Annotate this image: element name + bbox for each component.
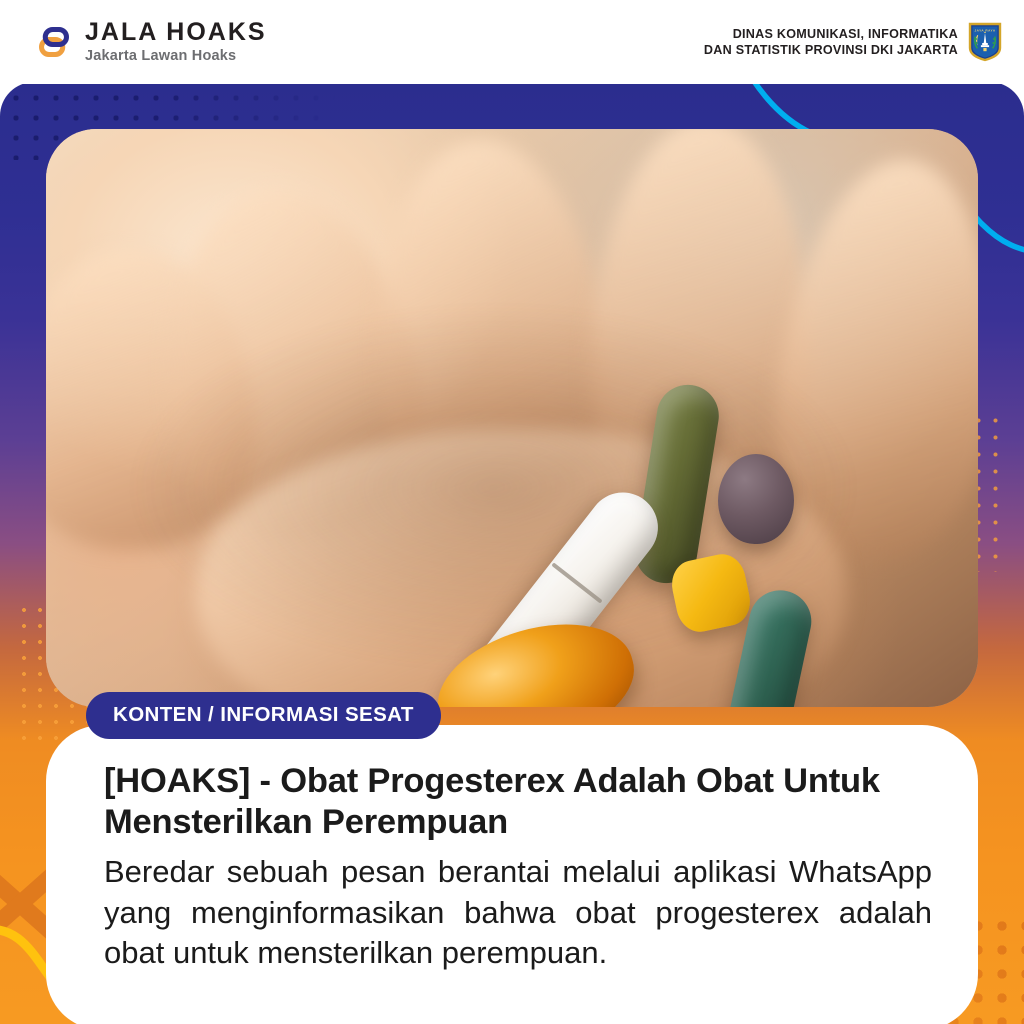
footer-social-bar: @jalahoaks @jalahoaks <box>0 950 1024 1024</box>
brand-text-block: JALA HOAKS Jakarta Lawan Hoaks <box>85 20 267 64</box>
header-bar: JALA HOAKS Jakarta Lawan Hoaks DINAS KOM… <box>0 0 1024 84</box>
instagram-icon <box>58 971 85 998</box>
brand-lockup: JALA HOAKS Jakarta Lawan Hoaks <box>34 20 267 64</box>
social-item-whatsapp[interactable]: 0813 5000 5331 <box>437 971 674 998</box>
twitter-icon <box>258 971 285 998</box>
brand-subtitle: Jakarta Lawan Hoaks <box>85 49 267 64</box>
government-lockup: DINAS KOMUNIKASI, INFORMATIKA DAN STATIS… <box>704 22 1002 62</box>
social-label-website: jalahoaks.jakarta.go.id <box>733 972 966 997</box>
social-label-twitter: @jalahoaks <box>296 972 416 997</box>
government-agency-text: DINAS KOMUNIKASI, INFORMATIKA DAN STATIS… <box>704 26 958 58</box>
social-label-instagram: @jalahoaks <box>96 972 216 997</box>
social-item-twitter[interactable]: @jalahoaks <box>237 971 437 998</box>
hero-panel: KONTEN / INFORMASI SESAT [HOAKS] - Obat … <box>0 82 1024 1024</box>
social-item-instagram[interactable]: @jalahoaks <box>37 971 237 998</box>
dki-jakarta-emblem-icon: JAYA RAYA <box>968 22 1002 62</box>
poster-canvas: JALA HOAKS Jakarta Lawan Hoaks DINAS KOM… <box>0 0 1024 1024</box>
social-item-website[interactable]: jalahoaks.jakarta.go.id <box>674 971 987 998</box>
whatsapp-icon <box>458 971 485 998</box>
hero-photo <box>46 129 978 707</box>
status-badge[interactable]: KONTEN / INFORMASI SESAT <box>86 692 441 739</box>
government-line-2: DAN STATISTIK PROVINSI DKI JAKARTA <box>704 43 958 57</box>
page-title: [HOAKS] - Obat Progesterex Adalah Obat U… <box>104 761 932 842</box>
social-label-whatsapp: 0813 5000 5331 <box>496 972 653 997</box>
jala-hoaks-chain-logo-icon <box>34 22 74 62</box>
globe-icon <box>695 971 722 998</box>
government-line-1: DINAS KOMUNIKASI, INFORMATIKA <box>733 27 958 41</box>
pill-purple-round <box>718 454 794 544</box>
brand-title: JALA HOAKS <box>85 20 267 45</box>
